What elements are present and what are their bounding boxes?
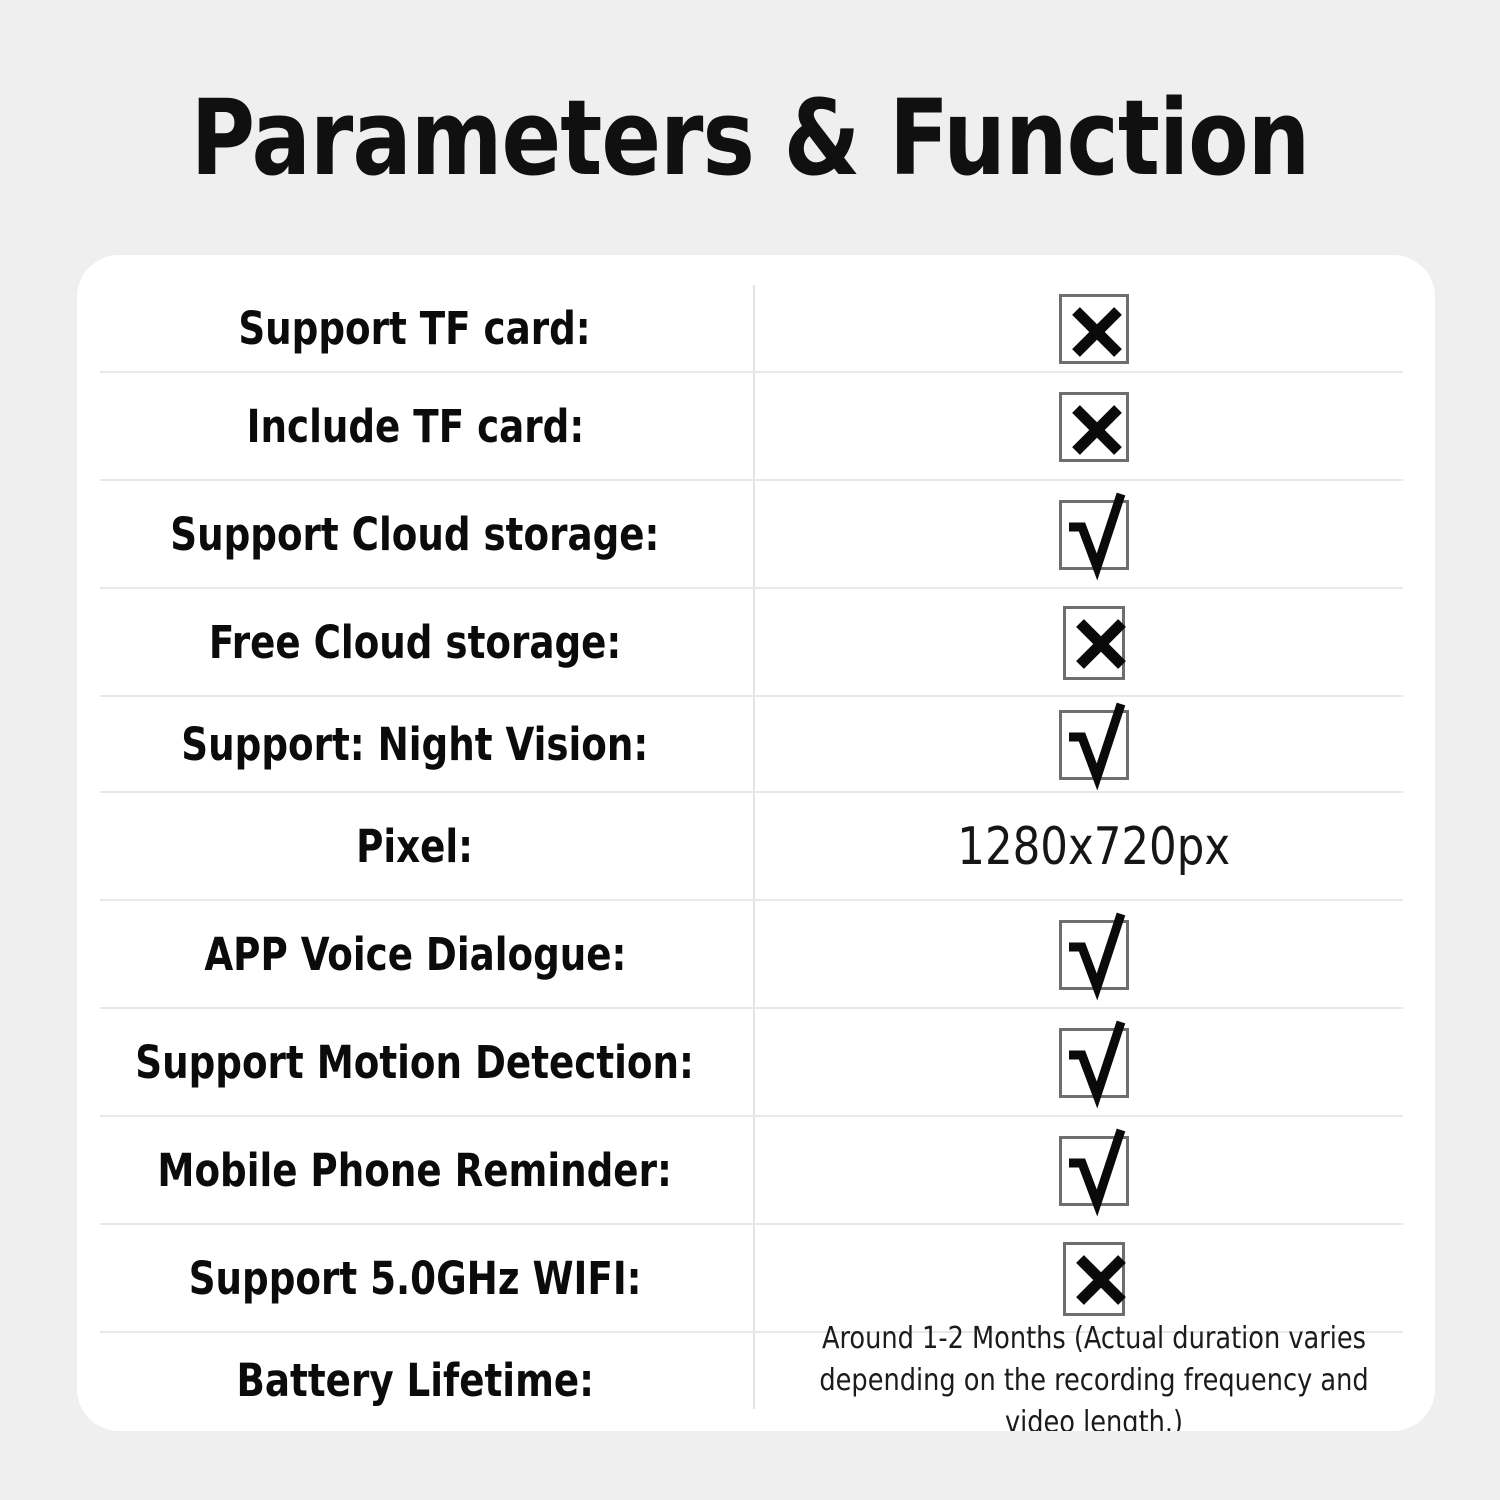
spec-value: 1280x720px (958, 818, 1231, 876)
spec-label-cell: Free Cloud storage: (77, 618, 753, 668)
spec-value-cell (753, 1242, 1435, 1316)
spec-sheet-page: Parameters & Function Support TF card:In… (0, 0, 1500, 1500)
spec-value-note: Around 1-2 Months (Actual duration varie… (781, 1318, 1408, 1431)
spec-label-cell: Battery Lifetime: (77, 1356, 753, 1406)
table-row: Support Motion Detection: (77, 1009, 1435, 1117)
spec-label-cell: Support Cloud storage: (77, 510, 753, 560)
spec-label-cell: Mobile Phone Reminder: (77, 1146, 753, 1196)
spec-value-cell (753, 294, 1435, 364)
spec-label-cell: Support: Night Vision: (77, 720, 753, 770)
table-row: Support 5.0GHz WIFI: (77, 1225, 1435, 1333)
spec-label-cell: APP Voice Dialogue: (77, 930, 753, 980)
cross-mark-icon (1059, 392, 1129, 462)
cross-mark-icon (1059, 294, 1129, 364)
spec-label-cell: Support Motion Detection: (77, 1038, 753, 1088)
table-row: Support Cloud storage: (77, 481, 1435, 589)
table-row: Support TF card: (77, 285, 1435, 373)
spec-label-cell: Support 5.0GHz WIFI: (77, 1254, 753, 1304)
spec-value-cell (753, 606, 1435, 680)
check-mark-icon (1059, 1136, 1129, 1206)
spec-value-cell (753, 1136, 1435, 1206)
spec-value-cell: 1280x720px (753, 818, 1435, 876)
spec-label: Support 5.0GHz WIFI: (189, 1254, 642, 1304)
spec-value-cell: Around 1-2 Months (Actual duration varie… (753, 1318, 1435, 1431)
check-mark-icon (1059, 1028, 1129, 1098)
table-row: Free Cloud storage: (77, 589, 1435, 697)
table-row: Pixel:1280x720px (77, 793, 1435, 901)
spec-label-cell: Include TF card: (77, 402, 753, 452)
check-mark-icon (1059, 710, 1129, 780)
cross-mark-icon (1063, 606, 1125, 680)
table-row: APP Voice Dialogue: (77, 901, 1435, 1009)
cross-mark-glyph (1058, 285, 1136, 379)
spec-label: Support: Night Vision: (182, 720, 649, 770)
spec-label: Pixel: (357, 822, 474, 872)
spec-label: Battery Lifetime: (236, 1356, 594, 1406)
cross-mark-glyph (1062, 597, 1140, 691)
check-mark-icon (1059, 920, 1129, 990)
table-row: Include TF card: (77, 373, 1435, 481)
spec-label: Support Cloud storage: (170, 510, 659, 560)
spec-label-cell: Support TF card: (77, 304, 753, 354)
spec-label: Free Cloud storage: (209, 618, 621, 668)
spec-value-cell (753, 500, 1435, 570)
check-mark-glyph (1058, 491, 1136, 585)
table-row: Battery Lifetime:Around 1-2 Months (Actu… (77, 1333, 1435, 1429)
spec-label: APP Voice Dialogue: (204, 930, 626, 980)
check-mark-icon (1059, 500, 1129, 570)
check-mark-glyph (1058, 1019, 1136, 1113)
spec-label-cell: Pixel: (77, 822, 753, 872)
check-mark-glyph (1058, 701, 1136, 795)
check-mark-glyph (1058, 911, 1136, 1005)
spec-label: Support Motion Detection: (136, 1038, 695, 1088)
spec-value-cell (753, 710, 1435, 780)
spec-value-cell (753, 392, 1435, 462)
spec-value-cell (753, 920, 1435, 990)
page-title: Parameters & Function (45, 78, 1455, 198)
spec-table-card: Support TF card:Include TF card:Support … (77, 255, 1435, 1431)
cross-mark-glyph (1062, 1233, 1140, 1327)
cross-mark-glyph (1058, 383, 1136, 477)
cross-mark-icon (1063, 1242, 1125, 1316)
table-row: Support: Night Vision: (77, 697, 1435, 793)
spec-value-cell (753, 1028, 1435, 1098)
spec-label: Include TF card: (246, 402, 584, 452)
spec-label: Mobile Phone Reminder: (158, 1146, 672, 1196)
spec-label: Support TF card: (239, 304, 591, 354)
table-row: Mobile Phone Reminder: (77, 1117, 1435, 1225)
check-mark-glyph (1058, 1127, 1136, 1221)
